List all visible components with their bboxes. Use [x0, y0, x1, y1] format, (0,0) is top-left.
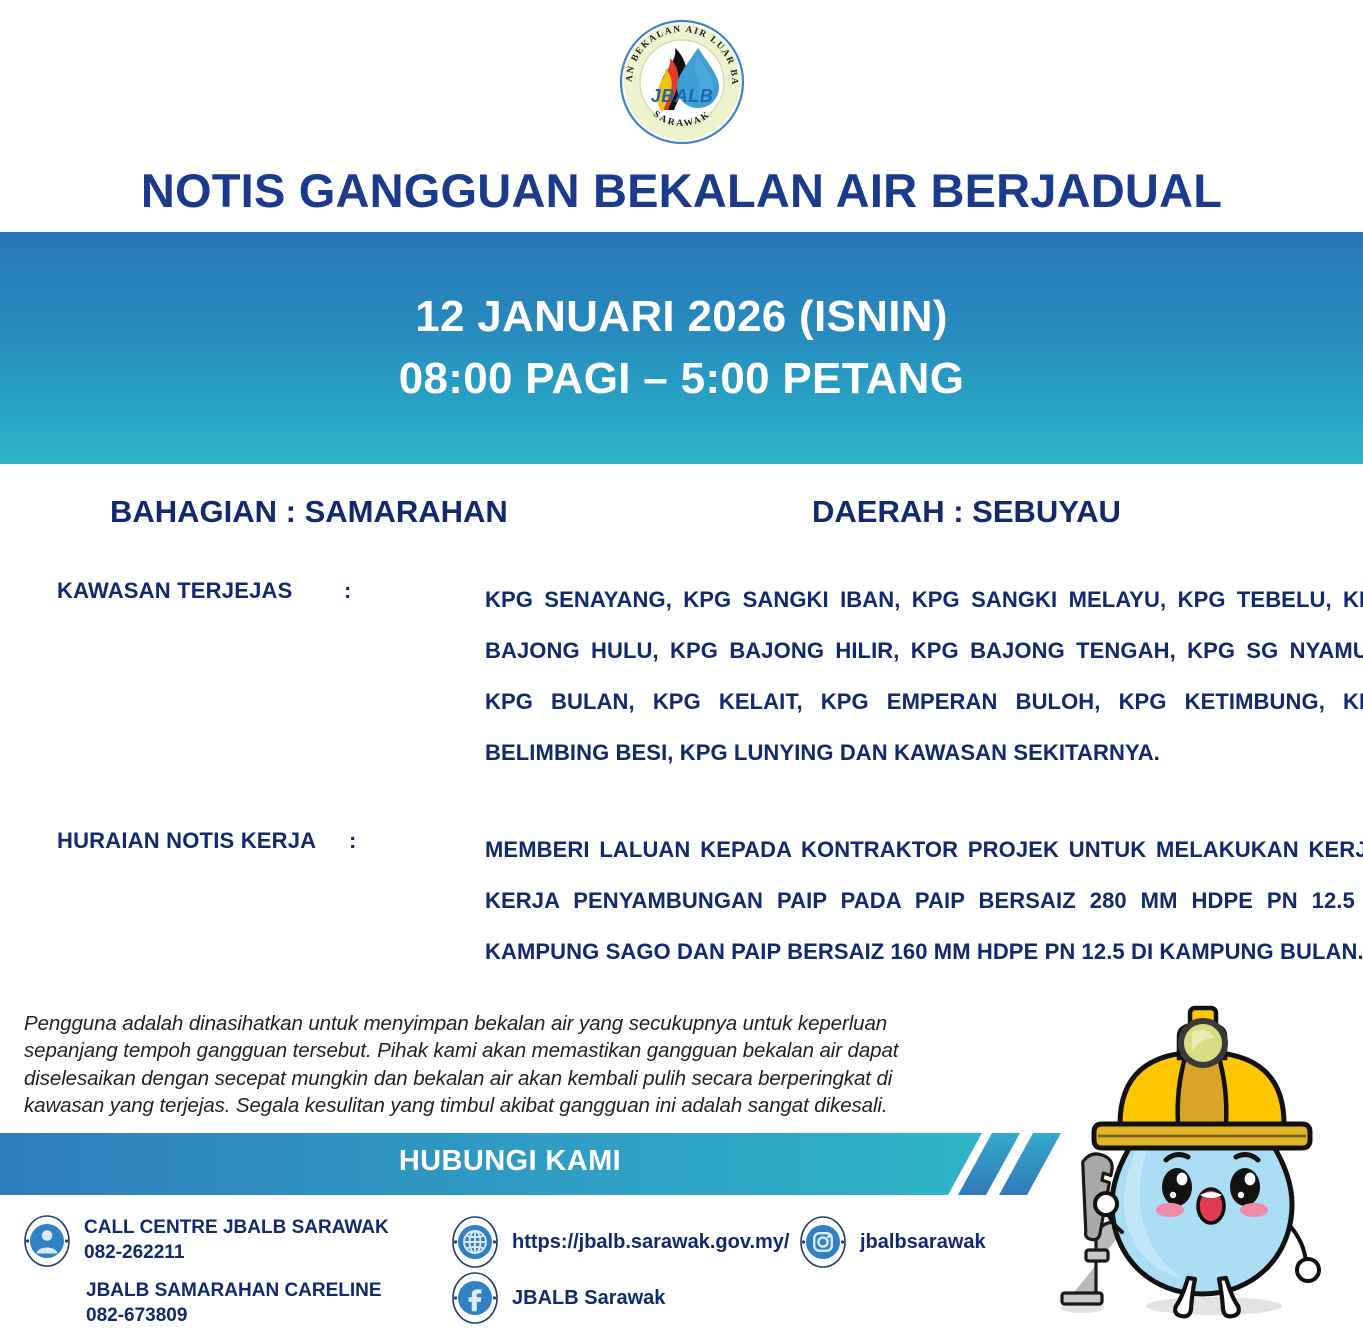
bahagian-label: BAHAGIAN : SAMARAHAN — [110, 494, 508, 530]
contact-line2: 082-262211 — [84, 1241, 389, 1266]
page-title: NOTIS GANGGUAN BEKALAN AIR BERJADUAL — [0, 163, 1363, 218]
contact-call-centre-text: CALL CENTRE JBALB SARAWAK 082-262211 — [84, 1216, 389, 1265]
instagram-icon — [800, 1216, 846, 1268]
affected-areas-label: KAWASAN TERJEJAS — [57, 578, 292, 604]
banner-date: 12 JANUARI 2026 (ISNIN) — [415, 286, 948, 348]
work-description-text: MEMBERI LALUAN KEPADA KONTRAKTOR PROJEK … — [485, 824, 1363, 977]
contact-call-centre[interactable]: CALL CENTRE JBALB SARAWAK 082-262211 — [24, 1215, 389, 1267]
affected-areas-colon: : — [344, 578, 351, 604]
contact-careline[interactable]: JBALB SAMARAHAN CARELINE 082-673809 — [86, 1279, 382, 1328]
jbalb-logo: JABATAN BEKALAN AIR LUAR BANDAR SARAWAK … — [618, 18, 746, 146]
contact-instagram-text: jbalbsarawak — [860, 1229, 986, 1255]
facebook-icon — [452, 1272, 498, 1324]
contact-line1: JBALB SAMARAHAN CARELINE — [86, 1279, 382, 1304]
contact-bar-label: HUBUNGI KAMI — [0, 1145, 1020, 1178]
globe-icon — [452, 1216, 498, 1268]
contact-line1: CALL CENTRE JBALB SARAWAK — [84, 1216, 389, 1241]
contact-facebook[interactable]: JBALB Sarawak — [452, 1272, 665, 1324]
contact-instagram[interactable]: jbalbsarawak — [800, 1216, 986, 1268]
contact-line1: jbalbsarawak — [860, 1229, 986, 1255]
person-icon — [24, 1215, 70, 1267]
contact-line1: https://jbalb.sarawak.gov.my/ — [512, 1229, 789, 1255]
schedule-banner: 12 JANUARI 2026 (ISNIN) 08:00 PAGI – 5:0… — [0, 232, 1363, 464]
contact-line2: 082-673809 — [86, 1304, 382, 1329]
work-description-colon: : — [349, 828, 356, 854]
contact-facebook-text: JBALB Sarawak — [512, 1285, 665, 1311]
contact-website-text: https://jbalb.sarawak.gov.my/ — [512, 1229, 789, 1255]
notice-poster: JABATAN BEKALAN AIR LUAR BANDAR SARAWAK … — [0, 0, 1363, 1340]
contact-careline-text: JBALB SAMARAHAN CARELINE 082-673809 — [86, 1279, 382, 1328]
contact-website[interactable]: https://jbalb.sarawak.gov.my/ — [452, 1216, 789, 1268]
work-description-label: HURAIAN NOTIS KERJA — [57, 828, 316, 854]
disclaimer-text: Pengguna adalah dinasihatkan untuk menyi… — [24, 1010, 974, 1119]
banner-time: 08:00 PAGI – 5:00 PETANG — [399, 348, 965, 410]
daerah-label: DAERAH : SEBUYAU — [812, 494, 1121, 530]
svg-text:JBALB: JBALB — [651, 86, 714, 106]
contact-line1: JBALB Sarawak — [512, 1285, 665, 1311]
affected-areas-text: KPG SENAYANG, KPG SANGKI IBAN, KPG SANGK… — [485, 574, 1363, 778]
water-droplet-worker-mascot — [1046, 988, 1358, 1340]
region-row: BAHAGIAN : SAMARAHAN DAERAH : SEBUYAU — [0, 494, 1363, 536]
